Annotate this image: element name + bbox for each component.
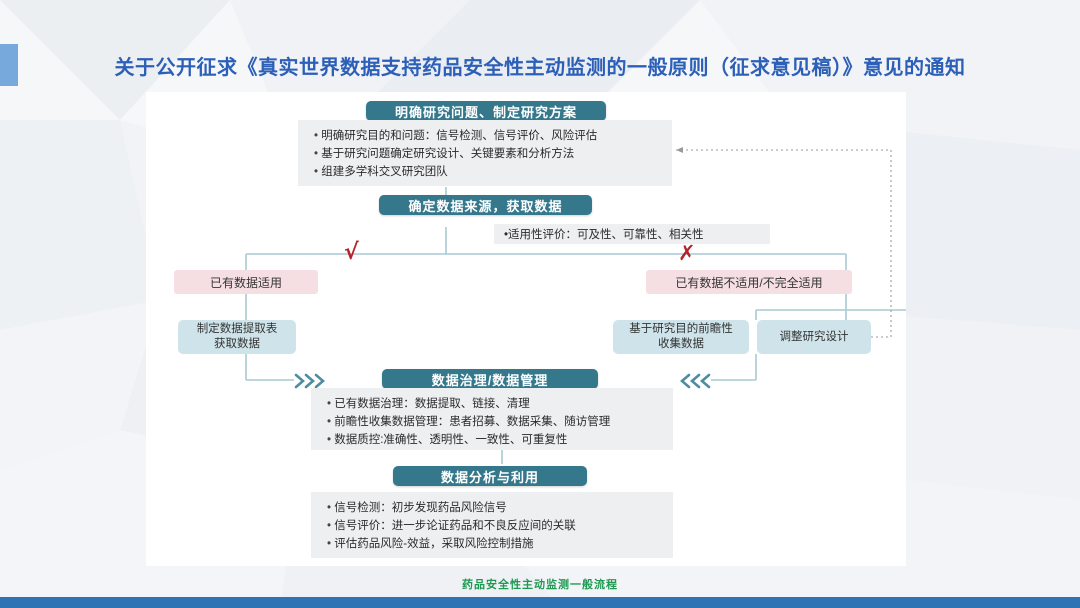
bottom-accent-bar — [0, 597, 1080, 608]
no-cross-mark: ✗ — [678, 241, 696, 265]
step3-bullets: 已有数据治理：数据提取、链接、清理 前瞻性收集数据管理：患者招募、数据采集、随访… — [311, 388, 673, 450]
branch-yes-label: 已有数据适用 — [174, 270, 318, 294]
feedback-arrowhead — [676, 147, 683, 153]
step4-bullet-3: 评估药品风险-效益，采取风险控制措施 — [327, 535, 659, 553]
branch-yes-action: 制定数据提取表 获取数据 — [178, 320, 296, 354]
step1-bullets: 明确研究目的和问题：信号检测、信号评价、风险评估 基于研究问题确定研究设计、关键… — [298, 120, 672, 186]
step3-header: 数据治理/数据管理 — [382, 369, 598, 389]
branch-no-label: 已有数据不适用/不完全适用 — [646, 270, 852, 294]
step4-header: 数据分析与利用 — [393, 466, 587, 486]
step1-header: 明确研究问题、制定研究方案 — [366, 101, 606, 121]
step3-bullet-1: 已有数据治理：数据提取、链接、清理 — [327, 395, 659, 413]
step1-bullet-1: 明确研究目的和问题：信号检测、信号评价、风险评估 — [314, 127, 658, 145]
step2-note: •适用性评价：可及性、可靠性、相关性 — [494, 224, 770, 244]
step1-bullet-2: 基于研究问题确定研究设计、关键要素和分析方法 — [314, 145, 658, 163]
yes-check-mark: √ — [344, 240, 359, 265]
step2-header: 确定数据来源，获取数据 — [379, 195, 592, 215]
branch-no-action-2: 调整研究设计 — [757, 320, 871, 354]
step3-bullet-3: 数据质控:准确性、透明性、一致性、可重复性 — [327, 431, 659, 449]
step4-bullet-1: 信号检测：初步发现药品风险信号 — [327, 499, 659, 517]
figure-caption: 药品安全性主动监测一般流程 — [0, 576, 1080, 592]
step4-bullets: 信号检测：初步发现药品风险信号 信号评价：进一步论证药品和不良反应间的关联 评估… — [311, 492, 673, 558]
step1-bullet-3: 组建多学科交叉研究团队 — [314, 163, 658, 181]
branch-no-action-1: 基于研究目的前瞻性 收集数据 — [613, 320, 749, 354]
step4-bullet-2: 信号评价：进一步论证药品和不良反应间的关联 — [327, 517, 659, 535]
page-title: 关于公开征求《真实世界数据支持药品安全性主动监测的一般原则（征求意见稿）》意见的… — [0, 44, 1080, 86]
step3-bullet-2: 前瞻性收集数据管理：患者招募、数据采集、随访管理 — [327, 413, 659, 431]
